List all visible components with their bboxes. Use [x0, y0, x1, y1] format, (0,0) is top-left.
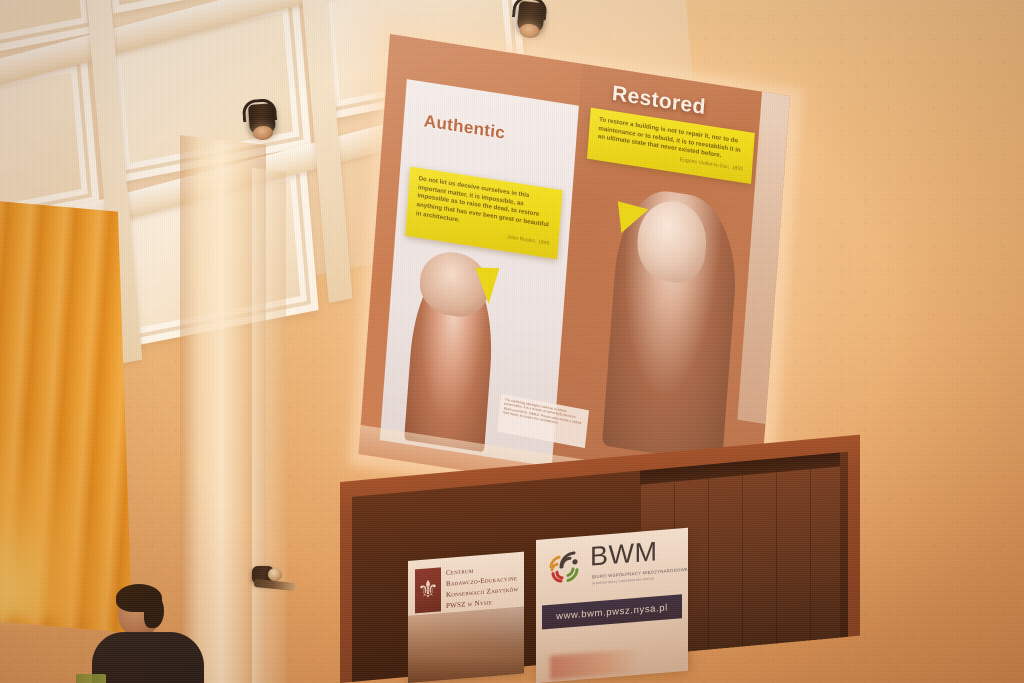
lecture-hall-photo: Authentic Restored Do not let us deceive… [0, 0, 1024, 683]
photo-vignette [0, 0, 1024, 683]
